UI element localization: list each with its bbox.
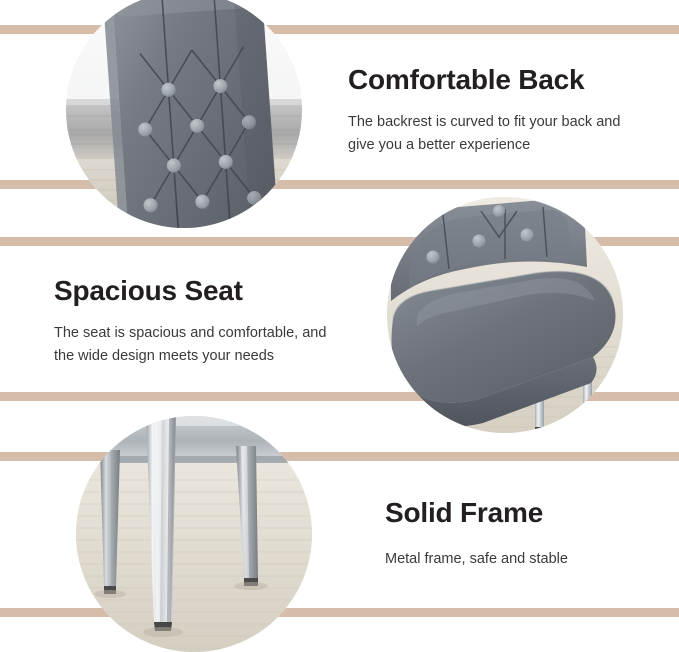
- feature-image-tufted-backrest-closeup: [66, 0, 302, 228]
- feature-description-line: the wide design meets your needs: [54, 345, 354, 368]
- feature-text-solid-frame: Solid Frame Metal frame, safe and stable: [385, 496, 665, 571]
- feature-text-spacious-seat: Spacious Seat The seat is spacious and c…: [54, 274, 354, 368]
- feature-description-spacious-seat: The seat is spacious and comfortable, an…: [54, 322, 354, 368]
- feature-description-line: Metal frame, safe and stable: [385, 548, 665, 571]
- feature-description-line: The seat is spacious and comfortable, an…: [54, 322, 354, 345]
- feature-description-comfortable-back: The backrest is curved to fit your back …: [348, 111, 648, 157]
- product-feature-infographic: Comfortable Back The backrest is curved …: [0, 0, 679, 649]
- feature-image-chrome-legs-closeup: [76, 416, 312, 652]
- feature-description-solid-frame: Metal frame, safe and stable: [385, 548, 665, 571]
- feature-description-line: The backrest is curved to fit your back …: [348, 111, 648, 134]
- feature-description-line: give you a better experience: [348, 134, 648, 157]
- feature-title-spacious-seat: Spacious Seat: [54, 274, 354, 308]
- feature-title-solid-frame: Solid Frame: [385, 496, 665, 530]
- feature-text-comfortable-back: Comfortable Back The backrest is curved …: [348, 63, 648, 157]
- feature-image-chair-seat-closeup: [387, 197, 623, 433]
- feature-title-comfortable-back: Comfortable Back: [348, 63, 648, 97]
